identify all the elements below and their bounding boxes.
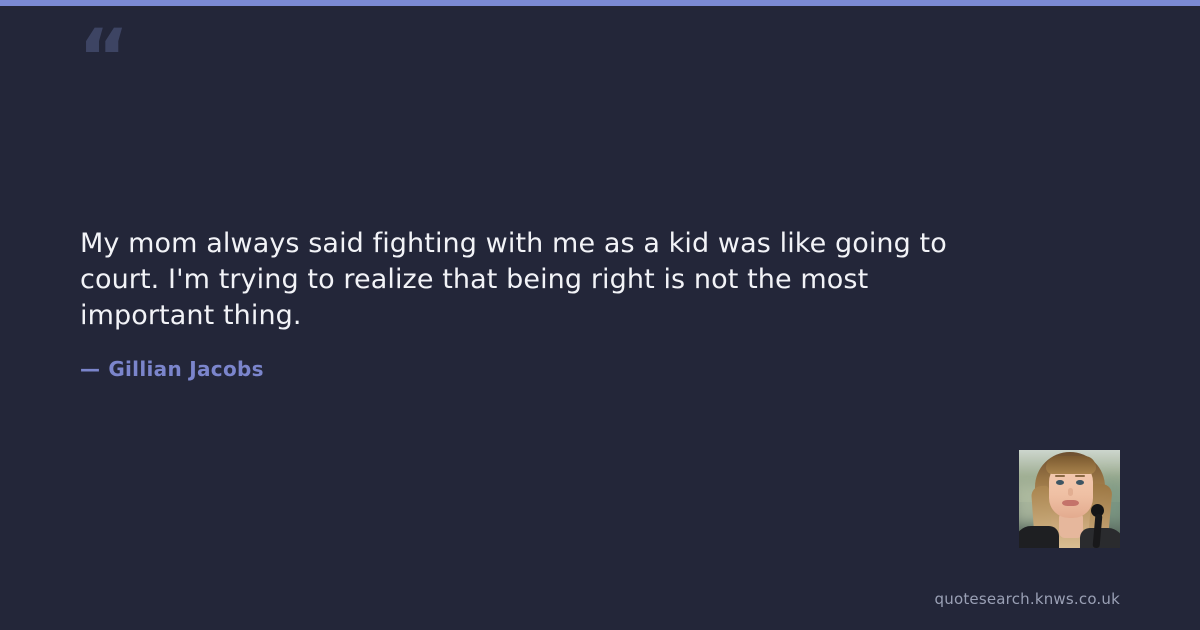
source-website-url: quotesearch.knws.co.uk: [935, 590, 1120, 608]
portrait-nose: [1068, 488, 1073, 496]
portrait-mouth: [1062, 500, 1079, 506]
portrait-eyebrow-right: [1075, 475, 1085, 477]
portrait-fringe: [1046, 456, 1096, 474]
portrait-eye-right: [1076, 480, 1084, 485]
author-dash: —: [80, 357, 100, 381]
author-name: Gillian Jacobs: [108, 357, 264, 381]
quote-author: —Gillian Jacobs: [80, 357, 264, 381]
quote-text: My mom always said fighting with me as a…: [80, 226, 980, 334]
quote-card: “ My mom always said fighting with me as…: [0, 0, 1200, 630]
portrait-eyebrow-left: [1055, 475, 1065, 477]
portrait-shoulder-left: [1019, 526, 1059, 548]
quotation-mark-icon: “: [78, 20, 127, 98]
author-portrait-image: [1019, 450, 1120, 548]
top-accent-bar: [0, 0, 1200, 6]
portrait-eye-left: [1056, 480, 1064, 485]
